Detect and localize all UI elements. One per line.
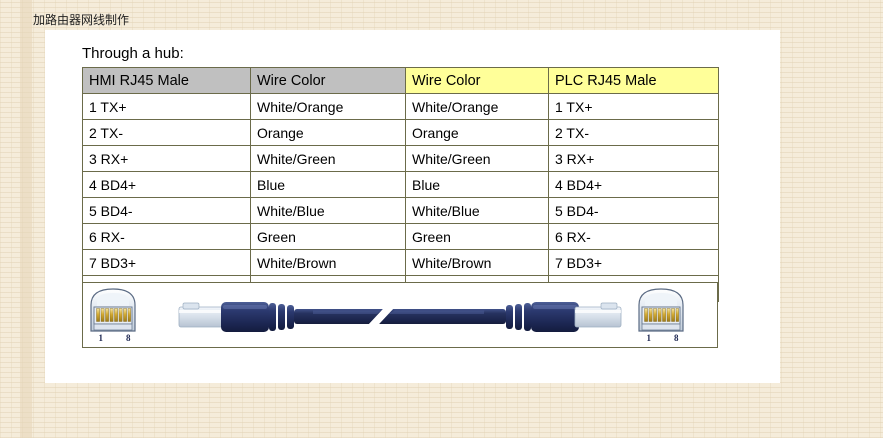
table-header-row: HMI RJ45 Male Wire Color Wire Color PLC …	[83, 68, 719, 94]
cell-wire-color-plc: White/Green	[406, 146, 549, 172]
table-row: 5 BD4- White/Blue White/Blue 5 BD4-	[83, 198, 719, 224]
cell-wire-color-hmi: White/Green	[251, 146, 406, 172]
column-header-wire-color-plc: Wire Color	[406, 68, 549, 94]
cell-wire-color-hmi: White/Blue	[251, 198, 406, 224]
cell-wire-color-hmi: Orange	[251, 120, 406, 146]
cell-plc-pin: 3 RX+	[549, 146, 719, 172]
cell-hmi-pin: 6 RX-	[83, 224, 251, 250]
table-row: 7 BD3+ White/Brown White/Brown 7 BD3+	[83, 250, 719, 276]
pinout-table: HMI RJ45 Male Wire Color Wire Color PLC …	[82, 67, 719, 302]
cell-hmi-pin: 1 TX+	[83, 94, 251, 120]
table-row: 1 TX+ White/Orange White/Orange 1 TX+	[83, 94, 719, 120]
cell-wire-color-hmi: Blue	[251, 172, 406, 198]
cell-wire-color-plc: Blue	[406, 172, 549, 198]
table-row: 4 BD4+ Blue Blue 4 BD4+	[83, 172, 719, 198]
cell-plc-pin: 6 RX-	[549, 224, 719, 250]
left-strain-relief-ribs	[269, 303, 294, 331]
ethernet-cable-illustration: 1 8	[83, 283, 717, 347]
cell-plc-pin: 4 BD4+	[549, 172, 719, 198]
left-rj45-connector-front-view: 1 8	[91, 289, 135, 343]
table-row: 2 TX- Orange Orange 2 TX-	[83, 120, 719, 146]
right-rj45-connector-front-view: 1 8	[639, 289, 683, 343]
cell-plc-pin: 1 TX+	[549, 94, 719, 120]
cell-hmi-pin: 3 RX+	[83, 146, 251, 172]
column-header-hmi-rj45-male: HMI RJ45 Male	[83, 68, 251, 94]
cell-wire-color-plc: Orange	[406, 120, 549, 146]
right-pin-1-label: 1	[647, 333, 652, 343]
cell-wire-color-hmi: White/Brown	[251, 250, 406, 276]
cell-wire-color-plc: White/Orange	[406, 94, 549, 120]
left-rj45-plug-side-view	[179, 302, 316, 332]
cell-wire-color-plc: White/Brown	[406, 250, 549, 276]
cell-plc-pin: 5 BD4-	[549, 198, 719, 224]
cell-wire-color-hmi: White/Orange	[251, 94, 406, 120]
left-pin-8-label: 8	[126, 333, 131, 343]
ethernet-cable-figure: 1 8	[82, 282, 718, 348]
page-title: 加路由器网线制作	[33, 10, 533, 30]
cell-wire-color-plc: White/Blue	[406, 198, 549, 224]
column-header-plc-rj45-male: PLC RJ45 Male	[549, 68, 719, 94]
content-panel: Through a hub: HMI RJ45 Male Wire Color …	[45, 30, 780, 383]
cell-hmi-pin: 2 TX-	[83, 120, 251, 146]
cell-wire-color-plc: Green	[406, 224, 549, 250]
cell-hmi-pin: 4 BD4+	[83, 172, 251, 198]
left-pin-1-label: 1	[99, 333, 104, 343]
right-pin-8-label: 8	[674, 333, 679, 343]
through-a-hub-heading: Through a hub:	[82, 45, 184, 62]
cable-cord	[313, 309, 487, 324]
column-header-wire-color-hmi: Wire Color	[251, 68, 406, 94]
cell-wire-color-hmi: Green	[251, 224, 406, 250]
left-gutter-strip	[20, 0, 32, 438]
cell-hmi-pin: 7 BD3+	[83, 250, 251, 276]
right-rj45-plug-side-view	[484, 302, 621, 332]
table-row: 3 RX+ White/Green White/Green 3 RX+	[83, 146, 719, 172]
right-strain-relief-ribs	[506, 303, 531, 331]
cell-hmi-pin: 5 BD4-	[83, 198, 251, 224]
table-row: 6 RX- Green Green 6 RX-	[83, 224, 719, 250]
cell-plc-pin: 7 BD3+	[549, 250, 719, 276]
cell-plc-pin: 2 TX-	[549, 120, 719, 146]
